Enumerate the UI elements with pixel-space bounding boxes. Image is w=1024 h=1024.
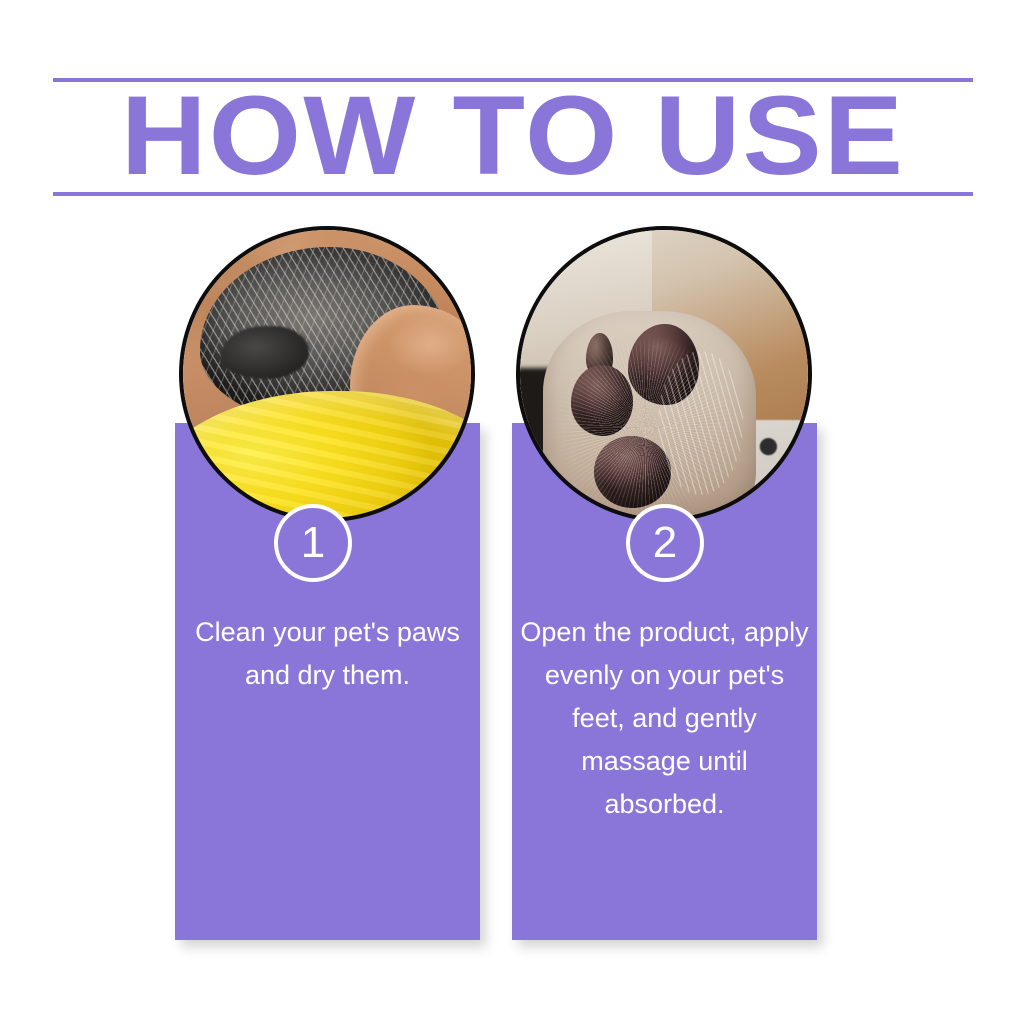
yellow-towel-shape bbox=[183, 391, 471, 518]
step-1-photo bbox=[179, 226, 475, 522]
step-2-description: Open the product, apply evenly on your p… bbox=[520, 611, 809, 826]
step-1-description: Clean your pet's paws and dry them. bbox=[183, 611, 472, 697]
step-1-photo-image bbox=[183, 230, 471, 518]
step-2-photo bbox=[516, 226, 812, 522]
step-1-badge: 1 bbox=[274, 504, 352, 582]
steps-container: Clean your pet's paws and dry them. 1 Op… bbox=[0, 0, 1024, 1024]
step-2-badge: 2 bbox=[626, 504, 704, 582]
paw-fur-edge bbox=[658, 351, 743, 495]
step-2-photo-image bbox=[520, 230, 808, 518]
dog-leg-shape bbox=[543, 311, 756, 518]
how-to-use-infographic: HOW TO USE Clean your pet's paws and dry… bbox=[0, 0, 1024, 1024]
